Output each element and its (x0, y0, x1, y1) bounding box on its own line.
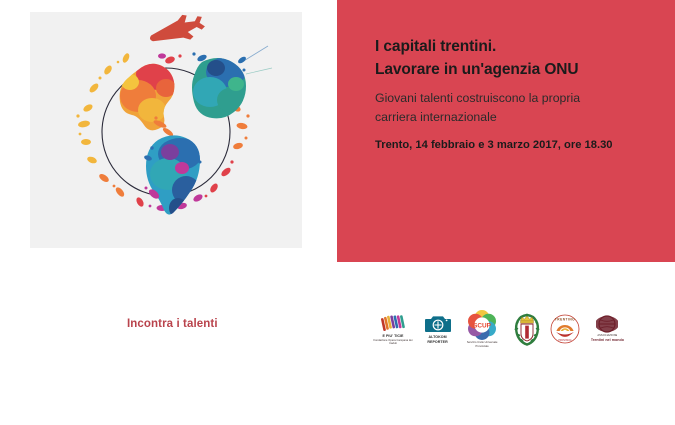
logo-subcaption: Servizio Civile Universale Provinciale (461, 341, 503, 347)
cta-label: Incontra i talenti (127, 318, 218, 330)
logo-caption: E PIU' TICIE (382, 334, 403, 338)
logo-trentino: TRENTINO PROVINCIA (550, 307, 580, 351)
watercolor-globe-icon (30, 12, 302, 248)
svg-text:SCUP: SCUP (473, 323, 491, 330)
scup-circles-icon: SCUP (467, 310, 497, 340)
logo-caption: ALTOKOM (428, 335, 446, 339)
hero-image-panel (30, 12, 302, 248)
subtitle-line-1: Giovani talenti costruiscono la propria (375, 89, 643, 108)
headline-line-2: Lavorare in un'agenzia ONU (375, 59, 665, 82)
page-subtitle: Giovani talenti costruiscono la propria … (375, 89, 643, 126)
svg-text:PROVINCIA: PROVINCIA (559, 339, 573, 342)
partner-logo-strip: E PIU' TICIE Fondazione Opera Campana de… (372, 306, 624, 352)
logo-subcaption: REPORTER (427, 340, 447, 344)
camera-icon (425, 314, 451, 334)
logo-trentini-nel-mondo: ASSOCIAZIONE Trentini nel mondo (591, 307, 624, 351)
svg-text:TRENTINO: TRENTINO (555, 318, 575, 322)
title-panel: I capitali trentini. Lavorare in un'agen… (337, 0, 675, 262)
campana-mark-icon (378, 313, 408, 333)
trentini-nel-mondo-globe-icon (596, 315, 618, 333)
headline-line-1: I capitali trentini. (375, 36, 665, 59)
page-title: I capitali trentini. Lavorare in un'agen… (375, 36, 665, 82)
logo-scup: SCUP Servizio Civile Universale Provinci… (461, 307, 503, 351)
trento-crest-icon (514, 312, 540, 346)
subtitle-line-2: carriera internazionale (375, 108, 643, 127)
logo-comune-di-trento (514, 307, 540, 351)
trentino-badge-icon: TRENTINO PROVINCIA (550, 314, 580, 344)
logo-subcaption: Fondazione Opera Campana dei Caduti (372, 339, 414, 345)
logo-altrokom-reporter: ALTOKOM REPORTER (425, 307, 451, 351)
logo-caption: ASSOCIAZIONE (597, 334, 617, 337)
logo-fbk-opera-campana: E PIU' TICIE Fondazione Opera Campana de… (372, 307, 414, 351)
event-date-line: Trento, 14 febbraio e 3 marzo 2017, ore … (375, 138, 665, 154)
logo-subcaption: Trentini nel mondo (591, 338, 624, 342)
